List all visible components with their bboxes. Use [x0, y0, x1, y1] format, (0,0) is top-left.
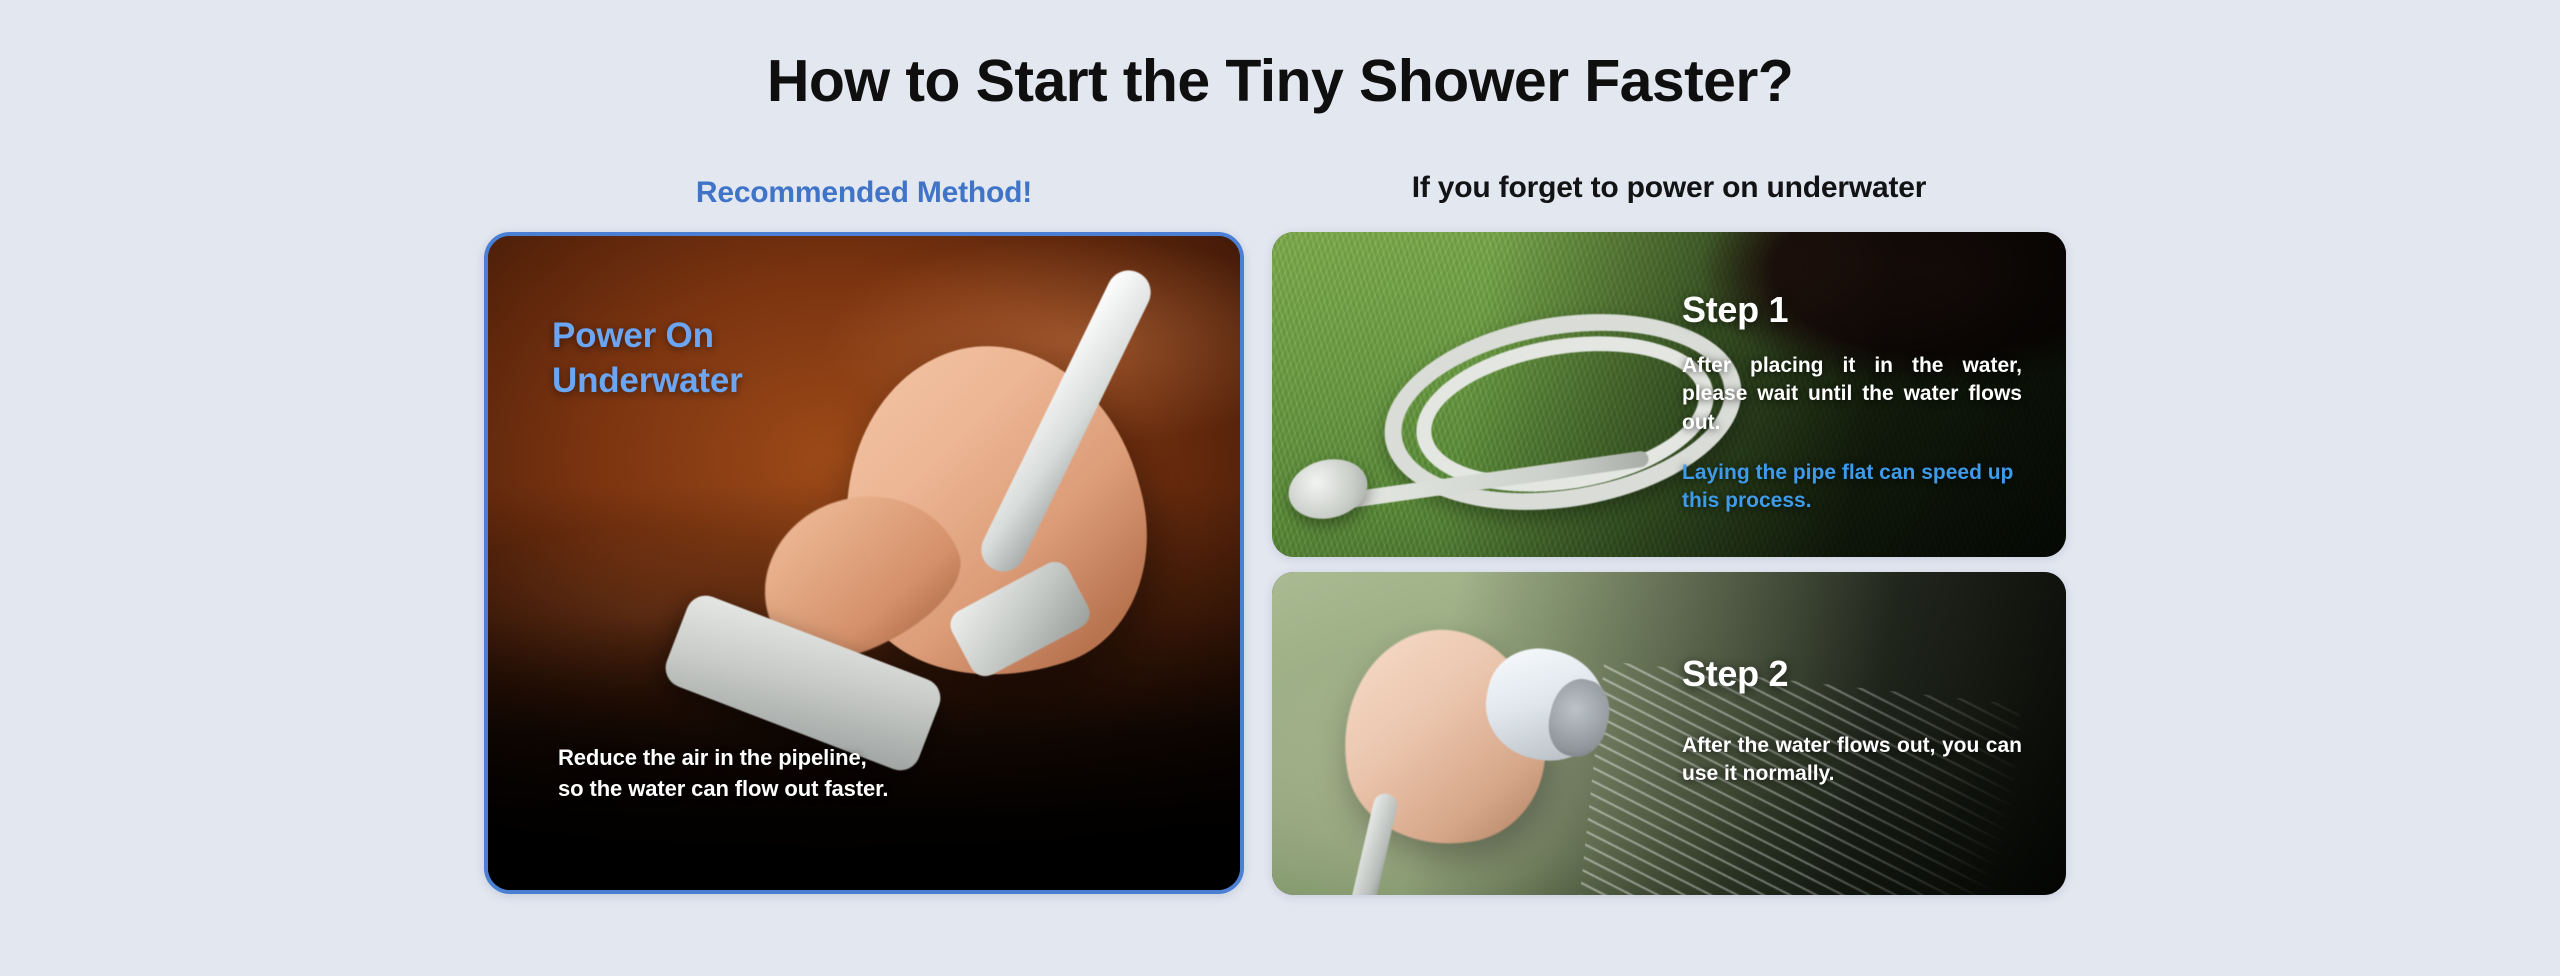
- step-1-card[interactable]: Step 1 After placing it in the water, pl…: [1272, 232, 2066, 557]
- step-2-label: Step 2: [1682, 654, 2022, 694]
- right-column-heading: If you forget to power on underwater: [1272, 170, 2066, 206]
- step-2-card[interactable]: Step 2 After the water flows out, you ca…: [1272, 572, 2066, 895]
- step-1-text-block: Step 1 After placing it in the water, pl…: [1682, 290, 2022, 515]
- step-2-text-block: Step 2 After the water flows out, you ca…: [1682, 654, 2022, 789]
- recommended-method-card[interactable]: Power On Underwater Reduce the air in th…: [484, 232, 1244, 894]
- shower-head-shape: [1282, 451, 1374, 527]
- page-title: How to Start the Tiny Shower Faster?: [0, 48, 2560, 116]
- step-2-body: After the water flows out, you can use i…: [1682, 732, 2022, 789]
- step-1-note: Laying the pipe flat can speed up this p…: [1682, 459, 2022, 515]
- infographic-page: How to Start the Tiny Shower Faster? Rec…: [0, 0, 2560, 976]
- hero-caption: Reduce the air in the pipeline, so the w…: [558, 742, 888, 804]
- left-column-heading: Recommended Method!: [484, 175, 1244, 211]
- step-1-body: After placing it in the water, please wa…: [1682, 352, 2022, 438]
- hero-title: Power On Underwater: [552, 314, 743, 404]
- step-1-label: Step 1: [1682, 290, 2022, 330]
